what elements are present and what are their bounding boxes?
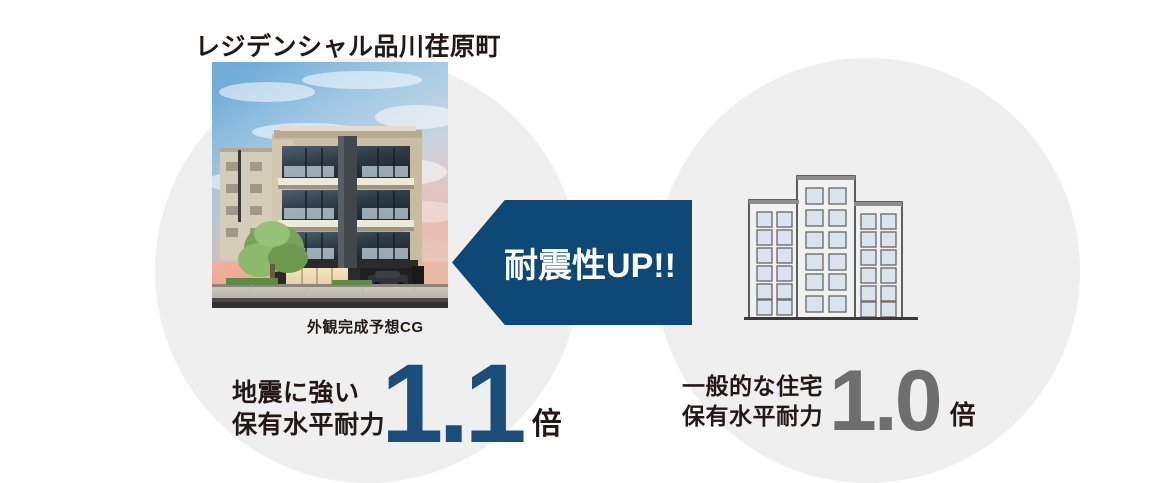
stat-block-standard: 一般的な住宅 保有水平耐力 1.0 倍 [682,368,976,435]
stat-left-label-line1: 地震に強い [232,377,385,409]
stat-right-label-line2: 保有水平耐力 [682,402,823,431]
stat-right-unit: 倍 [950,395,976,435]
stat-right-label-line1: 一般的な住宅 [682,372,823,401]
stat-right-value: 1.0 [829,368,940,435]
infographic-canvas: レジデンシャル品川荏原町 [0,0,1160,480]
exterior-cg-photo [212,62,448,308]
cg-caption: 外観完成予想CG [307,316,424,337]
stat-block-reinforced: 地震に強い 保有水平耐力 1.1 倍 [232,360,562,447]
stat-right-labels: 一般的な住宅 保有水平耐力 [682,372,823,435]
generic-building-icon [744,162,918,332]
stat-left-labels: 地震に強い 保有水平耐力 [232,377,385,447]
stat-left-unit: 倍 [532,399,562,447]
stat-left-label-line2: 保有水平耐力 [232,409,385,441]
page-title: レジデンシャル品川荏原町 [195,27,501,63]
exterior-cg-image [212,62,448,308]
stat-left-value: 1.1 [381,360,522,447]
